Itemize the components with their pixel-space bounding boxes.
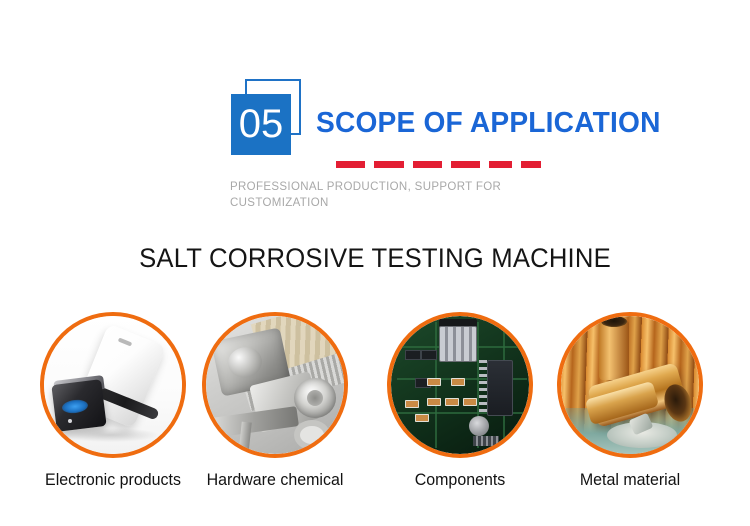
pcb-resistor-shape bbox=[451, 378, 465, 386]
dashed-divider bbox=[336, 161, 541, 169]
hardware-chemical-photo bbox=[206, 316, 344, 454]
pcb-chip-pins-shape bbox=[479, 360, 487, 416]
bearing-ring-shape bbox=[294, 378, 336, 418]
divider-dash bbox=[451, 161, 480, 168]
circle-frame bbox=[557, 312, 703, 458]
application-card-metal-material[interactable]: Metal material bbox=[545, 312, 715, 526]
header-subtitle: PROFESSIONAL PRODUCTION, SUPPORT FOR CUS… bbox=[230, 180, 530, 211]
pcb-resistor-shape bbox=[445, 398, 459, 406]
pcb-capacitor-bank-shape bbox=[439, 326, 477, 362]
circle-frame bbox=[202, 312, 348, 458]
divider-dash bbox=[374, 161, 403, 168]
pcb-ic-shape bbox=[421, 350, 437, 360]
pcb-resistor-shape bbox=[427, 378, 441, 386]
power-bank-led-shape bbox=[68, 419, 72, 423]
metal-washer-shape bbox=[294, 420, 330, 450]
metal-pin-shape bbox=[238, 422, 251, 454]
pcb-resistor-shape bbox=[405, 400, 419, 408]
section-number-text: 05 bbox=[231, 94, 291, 155]
card-caption: Metal material bbox=[550, 470, 710, 490]
circle-frame bbox=[387, 312, 533, 458]
application-card-row: Electronic products bbox=[0, 312, 750, 526]
circle-frame bbox=[40, 312, 186, 458]
header-subtitle-line-2: CUSTOMIZATION bbox=[230, 196, 530, 212]
divider-dash bbox=[489, 161, 512, 168]
components-pcb-photo bbox=[391, 316, 529, 454]
pcb-header-shape bbox=[473, 436, 499, 446]
application-card-components[interactable]: Components bbox=[375, 312, 545, 526]
card-caption: Electronic products bbox=[33, 470, 193, 490]
section-number-badge: 05 bbox=[231, 79, 305, 157]
section-title: SCOPE OF APPLICATION bbox=[316, 107, 661, 140]
divider-dash bbox=[413, 161, 442, 168]
product-shadow-shape bbox=[64, 428, 158, 442]
pcb-resistor-shape bbox=[415, 414, 429, 422]
application-card-hardware-chemical[interactable]: Hardware chemical bbox=[190, 312, 360, 526]
pcb-resistor-shape bbox=[463, 398, 477, 406]
metal-bar-shape bbox=[211, 406, 299, 438]
pcb-chip-shape bbox=[487, 360, 513, 416]
application-card-electronic-products[interactable]: Electronic products bbox=[28, 312, 198, 526]
page-title: SALT CORROSIVE TESTING MACHINE bbox=[19, 243, 732, 274]
pcb-resistor-shape bbox=[427, 398, 441, 406]
metal-material-photo bbox=[561, 316, 699, 454]
pcb-round-capacitor-shape bbox=[469, 416, 489, 436]
header-section: 05 SCOPE OF APPLICATION PROFESSIONAL PRO… bbox=[0, 0, 750, 226]
header-subtitle-line-1: PROFESSIONAL PRODUCTION, SUPPORT FOR bbox=[230, 181, 501, 193]
divider-dash bbox=[336, 161, 365, 168]
pcb-ic-shape bbox=[405, 350, 421, 360]
card-caption: Hardware chemical bbox=[195, 470, 355, 490]
electronic-products-photo bbox=[44, 316, 182, 454]
divider-dash bbox=[521, 161, 541, 168]
copper-tube-shape bbox=[599, 320, 629, 380]
card-caption: Components bbox=[380, 470, 540, 490]
slide-root: 05 SCOPE OF APPLICATION PROFESSIONAL PRO… bbox=[0, 0, 750, 526]
